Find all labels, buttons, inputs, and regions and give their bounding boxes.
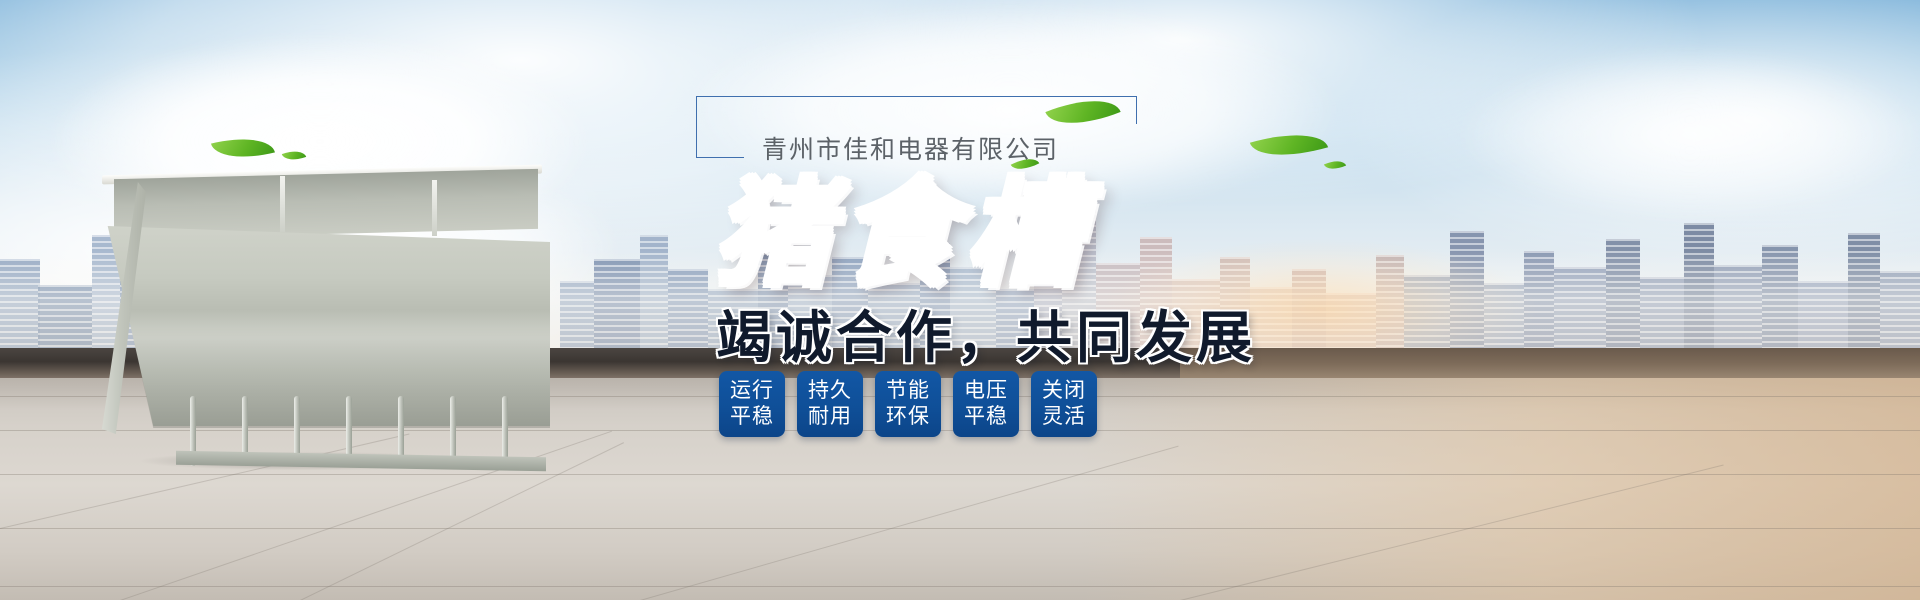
subtitle-slogan: 竭诚合作，共同发展: [716, 293, 1330, 374]
feature-badge[interactable]: 关闭 灵活: [1031, 371, 1097, 437]
frame-top-line: [696, 96, 1137, 97]
badge-line-1: 电压: [964, 378, 1008, 404]
badge-line-2: 耐用: [808, 404, 852, 430]
company-name-frame: 青州市佳和电器有限公司: [696, 96, 1137, 158]
frame-bottom-line: [696, 157, 744, 158]
badge-line-1: 节能: [886, 378, 930, 404]
badge-line-2: 灵活: [1042, 404, 1086, 430]
badge-line-1: 持久: [808, 378, 852, 404]
feature-badge-list: 运行 平稳 持久 耐用 节能 环保 电压 平稳 关闭 灵活: [719, 371, 1097, 437]
feeder-divider-1: [280, 176, 285, 232]
product-image-pig-feeder: [80, 168, 550, 468]
badge-line-1: 关闭: [1042, 378, 1086, 404]
badge-line-1: 运行: [730, 378, 774, 404]
company-name: 青州市佳和电器有限公司: [762, 130, 1059, 166]
frame-left-line: [696, 96, 697, 158]
banner-copy: 青州市佳和电器有限公司 猪食槽 竭诚合作，共同发展: [690, 96, 1330, 374]
headline-title: 猪食槽: [714, 174, 1330, 295]
feature-badge[interactable]: 电压 平稳: [953, 371, 1019, 437]
feeder-divider-2: [432, 180, 437, 236]
badge-line-2: 平稳: [730, 404, 774, 430]
feature-badge[interactable]: 持久 耐用: [797, 371, 863, 437]
promo-banner: 青州市佳和电器有限公司 猪食槽 竭诚合作，共同发展 运行 平稳 持久 耐用 节能…: [0, 0, 1920, 600]
feature-badge[interactable]: 节能 环保: [875, 371, 941, 437]
badge-line-2: 环保: [886, 404, 930, 430]
badge-line-2: 平稳: [964, 404, 1008, 430]
frame-right-line: [1136, 96, 1137, 124]
feature-badge[interactable]: 运行 平稳: [719, 371, 785, 437]
